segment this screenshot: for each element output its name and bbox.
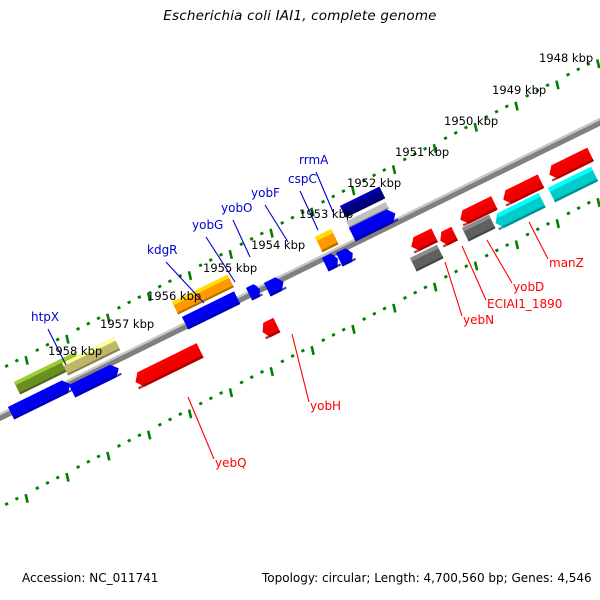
gene-label-htpX: htpX: [31, 310, 59, 324]
grid-dot-lower-seg: [261, 371, 264, 372]
scale-label: 1956 kbp: [147, 289, 201, 303]
grid-dot-upper-seg: [26, 356, 28, 365]
grid-dot-upper-seg: [240, 243, 243, 244]
grid-dot-lower-seg: [56, 477, 59, 478]
grid-dot-lower-seg: [199, 403, 202, 404]
grid-dot-lower-seg: [404, 297, 407, 298]
genome-map-canvas: Escherichia coli IAI1, complete genome 1…: [0, 0, 600, 600]
grid-dot-lower-seg: [77, 466, 80, 467]
grid-dot-upper-seg: [495, 111, 498, 112]
grid-dot-upper-seg: [332, 196, 335, 197]
grid-dot-upper-seg: [271, 229, 273, 238]
gene-label-yobF: yobF: [251, 186, 280, 200]
grid-dot-lower-seg: [557, 219, 559, 228]
grid-dot-lower-seg: [36, 487, 39, 488]
grid-dot-upper-seg: [230, 250, 232, 259]
leader-line-yobO: [233, 220, 250, 257]
grid-dot-upper-seg: [36, 349, 39, 350]
gene-feature-g18: [437, 227, 458, 248]
gene-labels: rrmAcspCyobFyobOyobGkdgRhtpXmanZyobDECIA…: [31, 153, 584, 470]
grid-dot-upper-seg: [281, 222, 284, 223]
gene-label-yobO: yobO: [221, 201, 253, 215]
grid-dot-upper-seg: [15, 360, 18, 361]
gene-feature-g19: [410, 245, 444, 272]
grid-dot-lower-seg: [455, 271, 458, 272]
scale-labels: 1948 kbp1949 kbp1950 kbp1951 kbp1952 kbp…: [48, 51, 593, 358]
grid-dot-lower-seg: [97, 456, 100, 457]
leader-line-yobD: [487, 240, 512, 283]
grid-dot-lower-seg: [67, 473, 69, 482]
genome-diagram: 1948 kbp1949 kbp1950 kbp1951 kbp1952 kbp…: [0, 0, 600, 600]
grid-dot-lower-seg: [169, 419, 172, 420]
gene-label-manZ: manZ: [549, 256, 584, 270]
leader-line-ECIAI1_1890: [462, 246, 486, 300]
grid-dot-upper-seg: [444, 137, 447, 138]
grid-dot-lower-seg: [15, 498, 18, 499]
gene-label-yebQ: yebQ: [215, 456, 247, 470]
grid-dot-upper-seg: [567, 74, 570, 75]
grid-dot-lower-seg: [475, 262, 477, 271]
grid-dot-lower-seg: [87, 461, 90, 462]
grid-dot-upper-seg: [516, 102, 518, 111]
grid-dot-upper-seg: [546, 84, 549, 85]
gene-label-cspC: cspC: [288, 172, 317, 186]
grid-dot-lower-seg: [301, 350, 304, 351]
grid-dot-upper-seg: [77, 328, 80, 329]
grid-dot-upper-seg: [199, 265, 202, 266]
grid-dot-lower-seg: [587, 202, 590, 203]
grid-dot-lower-seg: [465, 265, 468, 266]
grid-dot-lower-seg: [536, 228, 539, 229]
grid-dot-lower-seg: [516, 241, 518, 250]
grid-dot-lower-seg: [495, 250, 498, 251]
grid-dot-upper-seg: [260, 233, 263, 234]
grid-dot-upper-seg: [189, 271, 191, 280]
scale-label: 1953 kbp: [299, 207, 353, 221]
grid-dot-lower-seg: [179, 413, 182, 414]
grid-dot-upper-seg: [66, 335, 68, 344]
grid-dot-lower-seg: [5, 503, 8, 504]
leader-line-yebN: [445, 262, 462, 316]
leader-line-yebQ: [188, 397, 214, 459]
grid-dot-lower-seg: [250, 376, 253, 377]
grid-dot-upper-seg: [556, 81, 558, 90]
gene-label-yobG: yobG: [192, 218, 223, 232]
gene-label-ECIAI1_1890: ECIAI1_1890: [487, 297, 562, 311]
genome-stats-text: Topology: circular; Length: 4,700,560 bp…: [262, 571, 592, 585]
grid-dot-lower-seg: [220, 392, 223, 393]
grid-dot-lower-seg: [128, 440, 131, 441]
grid-dot-lower-seg: [383, 308, 386, 309]
scale-label: 1952 kbp: [347, 176, 401, 190]
gene-label-yobD: yobD: [513, 280, 544, 294]
gene-label-yobH: yobH: [310, 399, 341, 413]
grid-dot-upper-seg: [597, 59, 599, 68]
grid-dot-lower-seg: [414, 292, 417, 293]
grid-dot-lower-seg: [281, 361, 284, 362]
grid-dot-lower-seg: [393, 304, 395, 313]
grid-dot-lower-seg: [424, 287, 427, 288]
gene-label-yebN: yebN: [463, 313, 494, 327]
grid-dot-lower-seg: [240, 382, 243, 383]
scale-label: 1950 kbp: [444, 114, 498, 128]
grid-dot-lower-seg: [148, 431, 150, 440]
grid-dot-upper-seg: [117, 307, 120, 308]
grid-dot-upper-seg: [158, 286, 161, 287]
leader-line-yobH: [292, 334, 309, 402]
grid-dot-lower-seg: [342, 329, 345, 330]
grid-dot-lower-seg: [271, 367, 273, 376]
grid-dot-lower-seg: [434, 283, 436, 292]
grid-dot-upper-seg: [577, 69, 580, 70]
grid-dot-upper-seg: [87, 323, 90, 324]
grid-dot-lower-seg: [506, 244, 509, 245]
grid-dot-lower-seg: [373, 313, 376, 314]
grid-dot-lower-seg: [46, 482, 49, 483]
gene-label-rrmA: rrmA: [299, 153, 329, 167]
grid-dot-lower-seg: [598, 198, 600, 207]
scale-label: 1955 kbp: [203, 261, 257, 275]
leader-line-yobF: [265, 205, 288, 242]
scale-label: 1958 kbp: [48, 344, 102, 358]
grid-dot-lower-seg: [332, 334, 335, 335]
grid-dot-lower-seg: [230, 388, 232, 397]
gene-feature-g10: [259, 318, 280, 339]
grid-dot-lower-seg: [118, 445, 121, 446]
grid-dot-upper-seg: [322, 201, 325, 202]
grid-dot-lower-seg: [577, 207, 580, 208]
scale-label: 1951 kbp: [395, 145, 449, 159]
grid-dot-lower-seg: [26, 494, 28, 503]
grid-dot-lower-seg: [209, 398, 212, 399]
grid-dot-lower-seg: [189, 410, 191, 419]
grid-dot-lower-seg: [352, 325, 354, 334]
grid-dot-lower-seg: [322, 339, 325, 340]
scale-label: 1949 kbp: [492, 83, 546, 97]
grid-dot-lower-seg: [291, 355, 294, 356]
scale-label: 1948 kbp: [539, 51, 593, 65]
grid-dot-upper-seg: [220, 254, 223, 255]
scale-label: 1954 kbp: [251, 238, 305, 252]
leader-line-rrmA: [316, 172, 333, 212]
scale-label: 1957 kbp: [100, 317, 154, 331]
grid-dot-upper-seg: [342, 190, 345, 191]
grid-dot-lower-seg: [312, 346, 314, 355]
grid-dot-lower-seg: [138, 435, 141, 436]
grid-dot-lower-seg: [526, 234, 529, 235]
grid-dot-upper-seg: [291, 217, 294, 218]
grid-dot-upper-seg: [138, 296, 141, 297]
grid-dot-lower-seg: [158, 424, 161, 425]
grid-dot-upper-seg: [505, 106, 508, 107]
grid-dot-upper-seg: [5, 365, 8, 366]
grid-dot-upper-seg: [454, 132, 457, 133]
gene-label-kdgR: kdgR: [147, 243, 178, 257]
grid-dot-lower-seg: [363, 318, 366, 319]
grid-dot-lower-seg: [547, 223, 550, 224]
grid-dot-upper-seg: [393, 165, 395, 174]
grid-dot-lower-seg: [444, 276, 447, 277]
grid-dot-lower-seg: [107, 452, 109, 461]
grid-dot-upper-seg: [383, 169, 386, 170]
grid-dot-upper-seg: [56, 339, 59, 340]
grid-dot-lower-seg: [567, 213, 570, 214]
grid-dot-upper-seg: [128, 302, 131, 303]
grid-dot-lower-seg: [485, 255, 488, 256]
accession-text: Accession: NC_011741: [22, 571, 158, 585]
grid-dot-upper-seg: [169, 280, 172, 281]
